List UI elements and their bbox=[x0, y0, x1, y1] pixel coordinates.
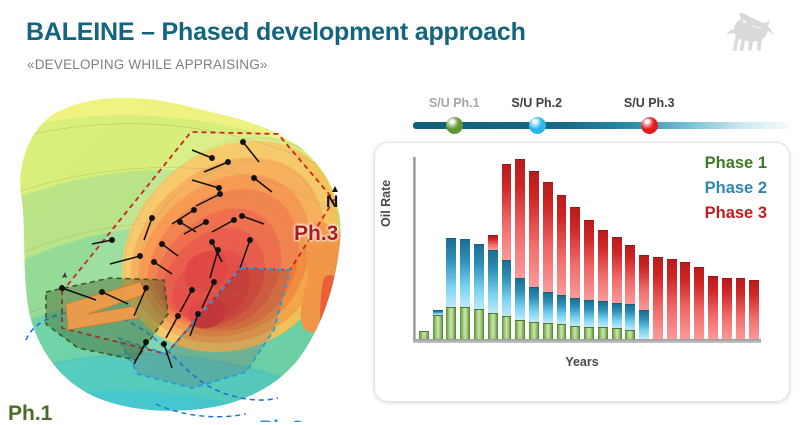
bar-segment-phase-1 bbox=[625, 330, 635, 339]
eni-dog-logo-icon bbox=[720, 8, 782, 64]
bar-segment-phase-2 bbox=[543, 292, 553, 323]
timeline-node-3[interactable] bbox=[641, 117, 658, 134]
legend-item-2: Phase 2 bbox=[705, 176, 767, 201]
bar-segment-phase-3 bbox=[543, 182, 553, 292]
bar-segment-phase-3 bbox=[570, 207, 580, 297]
bar-column[interactable] bbox=[445, 157, 459, 339]
bar-segment-phase-1 bbox=[598, 327, 608, 339]
map-phase3-label: Ph.3 bbox=[294, 222, 338, 246]
x-axis-label: Years bbox=[375, 355, 789, 369]
bar-segment-phase-2 bbox=[570, 298, 580, 326]
bar-segment-phase-3 bbox=[708, 276, 718, 339]
bar-segment-phase-1 bbox=[488, 313, 498, 339]
bar-column[interactable] bbox=[637, 157, 651, 339]
startup-timeline: S/U Ph.1S/U Ph.2S/U Ph.3 bbox=[413, 96, 788, 138]
map-phase2-label: Ph.2 bbox=[259, 417, 303, 422]
bar-segment-phase-1 bbox=[446, 307, 456, 339]
bar-column[interactable] bbox=[486, 157, 500, 339]
bar-segment-phase-1 bbox=[529, 322, 539, 339]
bar-segment-phase-1 bbox=[557, 324, 567, 339]
bar-column[interactable] bbox=[417, 157, 431, 339]
bar-segment-phase-2 bbox=[515, 278, 525, 321]
y-axis-line bbox=[413, 157, 416, 343]
bar-segment-phase-2 bbox=[502, 260, 512, 316]
bar-segment-phase-2 bbox=[625, 304, 635, 330]
bar-segment-phase-3 bbox=[736, 278, 746, 339]
bar-column[interactable] bbox=[541, 157, 555, 339]
bar-column[interactable] bbox=[610, 157, 624, 339]
bar-segment-phase-3 bbox=[639, 255, 649, 310]
bar-segment-phase-1 bbox=[515, 320, 525, 339]
bar-segment-phase-2 bbox=[488, 250, 498, 313]
timeline-track bbox=[413, 122, 788, 129]
bar-segment-phase-3 bbox=[584, 220, 594, 300]
bar-segment-phase-2 bbox=[460, 239, 470, 307]
bar-segment-phase-1 bbox=[474, 309, 484, 339]
bar-column[interactable] bbox=[651, 157, 665, 339]
north-arrow-icon: N bbox=[326, 186, 346, 214]
bar-segment-phase-3 bbox=[502, 164, 512, 260]
bar-segment-phase-3 bbox=[625, 245, 635, 304]
bar-segment-phase-3 bbox=[722, 278, 732, 339]
bar-segment-phase-3 bbox=[612, 237, 622, 302]
bar-column[interactable] bbox=[527, 157, 541, 339]
map-phase1-label: Ph.1 bbox=[8, 402, 52, 422]
legend-item-3: Phase 3 bbox=[705, 201, 767, 226]
map-contours bbox=[6, 92, 362, 422]
bar-segment-phase-2 bbox=[557, 295, 567, 324]
bar-segment-phase-3 bbox=[529, 171, 539, 287]
bar-column[interactable] bbox=[472, 157, 486, 339]
bar-segment-phase-1 bbox=[433, 315, 443, 339]
bar-segment-phase-1 bbox=[502, 316, 512, 339]
bar-segment-phase-1 bbox=[584, 327, 594, 339]
bar-segment-phase-3 bbox=[488, 235, 498, 250]
bar-column[interactable] bbox=[431, 157, 445, 339]
bar-segment-phase-2 bbox=[529, 287, 539, 322]
bar-segment-phase-3 bbox=[749, 280, 759, 339]
bar-segment-phase-3 bbox=[557, 195, 567, 296]
bar-column[interactable] bbox=[679, 157, 693, 339]
bar-column[interactable] bbox=[555, 157, 569, 339]
bar-segment-phase-3 bbox=[598, 230, 608, 301]
timeline-label-3: S/U Ph.3 bbox=[624, 96, 675, 110]
bar-column[interactable] bbox=[513, 157, 527, 339]
bar-column[interactable] bbox=[665, 157, 679, 339]
bar-column[interactable] bbox=[596, 157, 610, 339]
bar-column[interactable] bbox=[500, 157, 514, 339]
bar-segment-phase-2 bbox=[584, 300, 594, 327]
bar-segment-phase-3 bbox=[680, 262, 690, 339]
bar-segment-phase-3 bbox=[667, 259, 677, 339]
timeline-node-2[interactable] bbox=[529, 117, 546, 134]
production-profile-card: Oil Rate Years Phase 1Phase 2Phase 3 bbox=[374, 142, 790, 402]
bar-segment-phase-3 bbox=[515, 159, 525, 278]
timeline-node-1[interactable] bbox=[446, 117, 463, 134]
timeline-label-2: S/U Ph.2 bbox=[511, 96, 562, 110]
depth-map[interactable]: Ph.1 Ph.2 Ph.3 N Elevation depth [m] -30… bbox=[6, 92, 362, 422]
page-subtitle: «DEVELOPING WHILE APPRAISING» bbox=[27, 57, 268, 72]
bar-segment-phase-1 bbox=[419, 331, 429, 339]
bar-segment-phase-2 bbox=[446, 238, 456, 307]
legend-item-1: Phase 1 bbox=[705, 151, 767, 176]
bar-segment-phase-3 bbox=[653, 257, 663, 339]
bar-column[interactable] bbox=[582, 157, 596, 339]
bar-segment-phase-2 bbox=[474, 244, 484, 308]
bar-segment-phase-2 bbox=[612, 303, 622, 328]
bar-column[interactable] bbox=[568, 157, 582, 339]
bar-segment-phase-1 bbox=[612, 328, 622, 339]
page-title: BALEINE – Phased development approach bbox=[26, 18, 526, 47]
chart-legend: Phase 1Phase 2Phase 3 bbox=[705, 151, 767, 226]
slide-root: BALEINE – Phased development approach «D… bbox=[0, 0, 800, 425]
north-label: N bbox=[326, 192, 338, 212]
bar-column[interactable] bbox=[623, 157, 637, 339]
bar-segment-phase-1 bbox=[460, 307, 470, 339]
bar-segment-phase-2 bbox=[639, 310, 649, 339]
bar-segment-phase-2 bbox=[598, 301, 608, 327]
bar-segment-phase-1 bbox=[543, 323, 553, 339]
timeline-label-1: S/U Ph.1 bbox=[429, 96, 480, 110]
x-axis-line bbox=[413, 339, 761, 343]
bar-column[interactable] bbox=[458, 157, 472, 339]
bar-segment-phase-3 bbox=[694, 267, 704, 339]
bar-segment-phase-1 bbox=[570, 326, 580, 339]
y-axis-label: Oil Rate bbox=[379, 180, 393, 227]
